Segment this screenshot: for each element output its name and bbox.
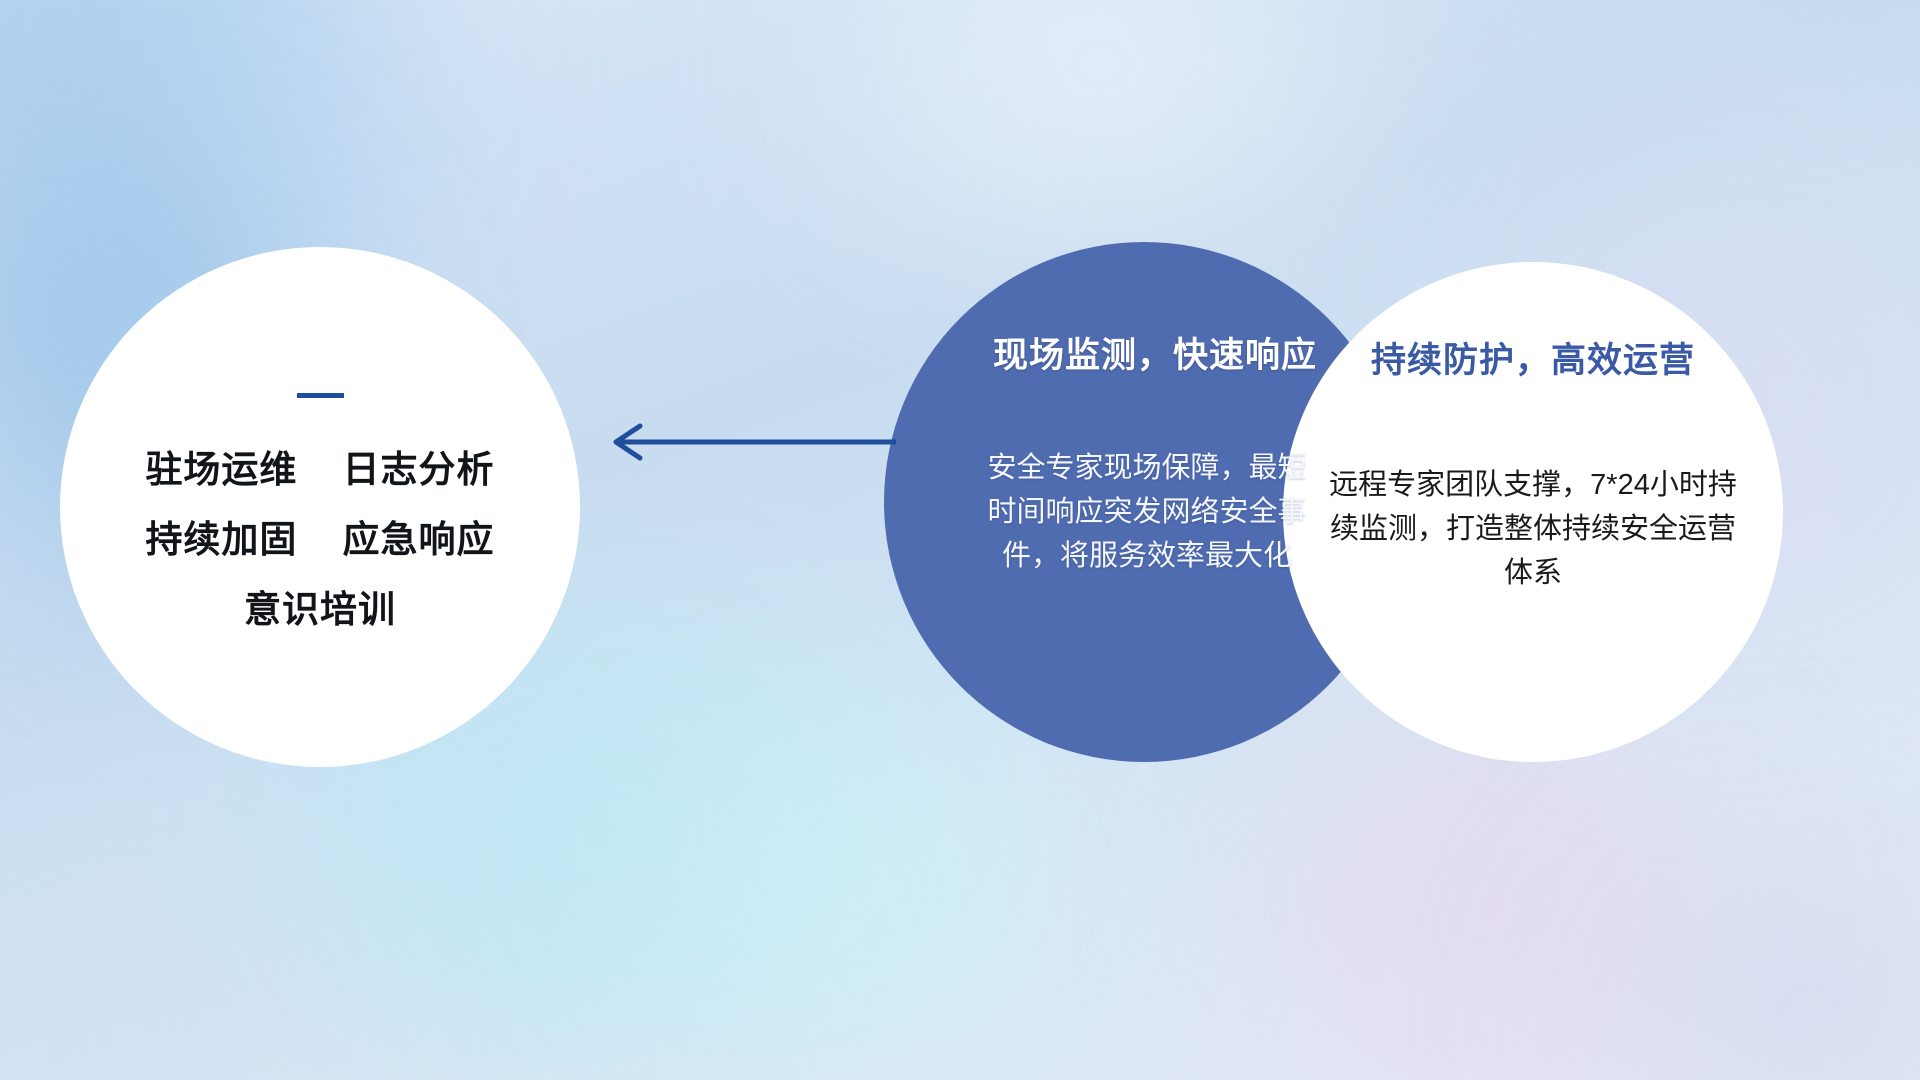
left-circle-divider [297,393,344,398]
left-circle-line-2: 持续加固 应急响应 [145,521,494,558]
left-pointing-arrow-icon [598,412,898,472]
right-circle-shape [1283,262,1783,762]
left-circle-line-1: 驻场运维 日志分析 [145,451,494,488]
left-circle-line-3: 意识培训 [244,591,396,628]
slide-canvas: 驻场运维 日志分析 持续加固 应急响应 意识培训 现场监测，快速响应 安全专家现… [0,0,1920,1080]
left-circle-content: 驻场运维 日志分析 持续加固 应急响应 意识培训 [60,247,580,767]
